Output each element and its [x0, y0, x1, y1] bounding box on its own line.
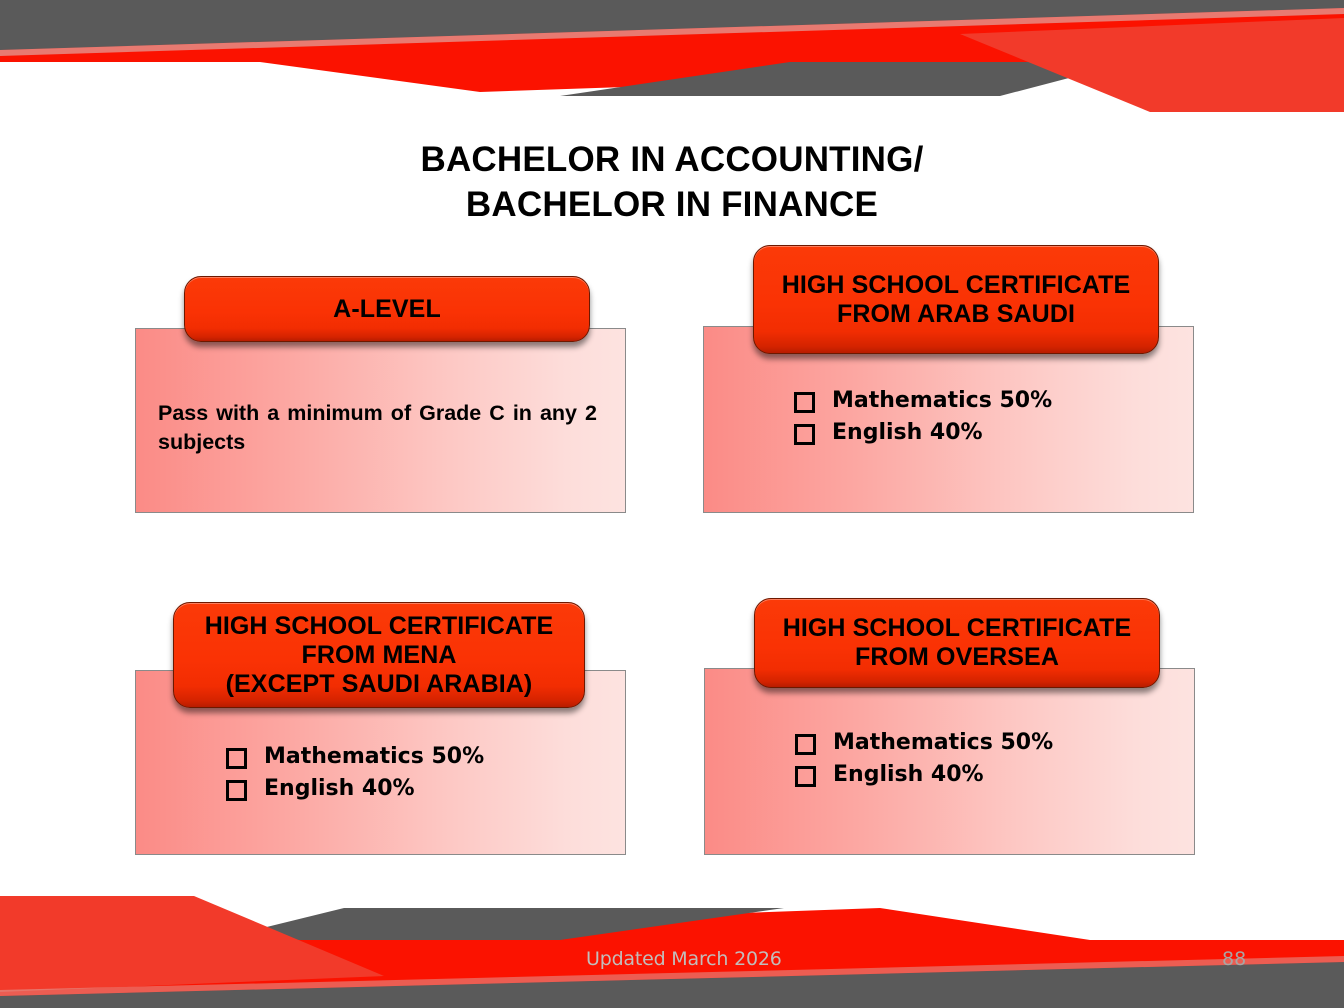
- bottom-banner-shapes: [0, 880, 1344, 1008]
- header-line-1: HIGH SCHOOL CERTIFICATE: [205, 612, 554, 641]
- header-line-3: (EXCEPT SAUDI ARABIA): [205, 670, 554, 699]
- top-red-band: [0, 8, 1344, 92]
- card-body-a-level: Pass with a minimum of Grade C in any 2 …: [158, 399, 597, 457]
- title-line-1: BACHELOR IN ACCOUNTING/: [0, 138, 1344, 183]
- header-line-2: FROM MENA: [205, 641, 554, 670]
- checkbox-outline-icon: [794, 424, 815, 445]
- list-item: English 40%: [794, 417, 1193, 449]
- header-line-1: HIGH SCHOOL CERTIFICATE: [782, 271, 1131, 300]
- top-gray-triangle: [560, 62, 1130, 96]
- card-body-arab-saudi: Mathematics 50% English 40%: [794, 385, 1193, 448]
- top-gray-wedge: [0, 0, 1344, 56]
- list-item-label: English 40%: [832, 417, 983, 449]
- checkbox-outline-icon: [794, 392, 815, 413]
- header-line-1: HIGH SCHOOL CERTIFICATE: [783, 614, 1132, 643]
- requirement-list-oversea: Mathematics 50% English 40%: [795, 727, 1194, 790]
- list-item-label: English 40%: [264, 773, 415, 805]
- checkbox-outline-icon: [795, 734, 816, 755]
- bottom-decorative-banner: [0, 880, 1344, 1008]
- bottom-red-light-wedge: [0, 896, 384, 992]
- card-header-oversea[interactable]: HIGH SCHOOL CERTIFICATE FROM OVERSEA: [754, 598, 1160, 688]
- requirement-card-a-level: Pass with a minimum of Grade C in any 2 …: [135, 328, 626, 513]
- card-header-mena[interactable]: HIGH SCHOOL CERTIFICATE FROM MENA (EXCEP…: [173, 602, 585, 708]
- bottom-gray-triangle: [214, 908, 784, 940]
- list-item: English 40%: [795, 759, 1194, 791]
- requirement-list-arab-saudi: Mathematics 50% English 40%: [794, 385, 1193, 448]
- title-line-2: BACHELOR IN FINANCE: [0, 183, 1344, 228]
- header-line-2: FROM OVERSEA: [783, 643, 1132, 672]
- list-item-label: Mathematics 50%: [832, 385, 1052, 417]
- card-paragraph-a-level: Pass with a minimum of Grade C in any 2 …: [158, 399, 597, 457]
- slide-title: BACHELOR IN ACCOUNTING/ BACHELOR IN FINA…: [0, 138, 1344, 228]
- top-red-light-wedge: [960, 18, 1344, 112]
- list-item: Mathematics 50%: [794, 385, 1193, 417]
- checkbox-outline-icon: [226, 780, 247, 801]
- list-item-label: Mathematics 50%: [264, 741, 484, 773]
- requirement-card-oversea: Mathematics 50% English 40%: [704, 668, 1195, 855]
- header-line-2: FROM ARAB SAUDI: [782, 300, 1131, 329]
- top-banner-shapes: [0, 0, 1344, 112]
- card-body-oversea: Mathematics 50% English 40%: [795, 727, 1194, 790]
- card-body-mena: Mathematics 50% English 40%: [226, 741, 625, 804]
- list-item: English 40%: [226, 773, 625, 805]
- list-item: Mathematics 50%: [226, 741, 625, 773]
- requirement-list-mena: Mathematics 50% English 40%: [226, 741, 625, 804]
- list-item-label: English 40%: [833, 759, 984, 791]
- list-item: Mathematics 50%: [795, 727, 1194, 759]
- checkbox-outline-icon: [795, 766, 816, 787]
- requirement-card-arab-saudi: Mathematics 50% English 40%: [703, 326, 1194, 513]
- card-header-arab-saudi[interactable]: HIGH SCHOOL CERTIFICATE FROM ARAB SAUDI: [753, 245, 1159, 354]
- checkbox-outline-icon: [226, 748, 247, 769]
- header-line-1: A-LEVEL: [333, 295, 441, 324]
- slide-canvas: BACHELOR IN ACCOUNTING/ BACHELOR IN FINA…: [0, 0, 1344, 1008]
- top-edge-highlight: [0, 8, 1344, 56]
- page-number: 88: [1222, 948, 1246, 970]
- top-decorative-banner: [0, 0, 1344, 112]
- list-item-label: Mathematics 50%: [833, 727, 1053, 759]
- card-header-a-level[interactable]: A-LEVEL: [184, 276, 590, 342]
- footer-updated-note: Updated March 2026: [586, 948, 782, 970]
